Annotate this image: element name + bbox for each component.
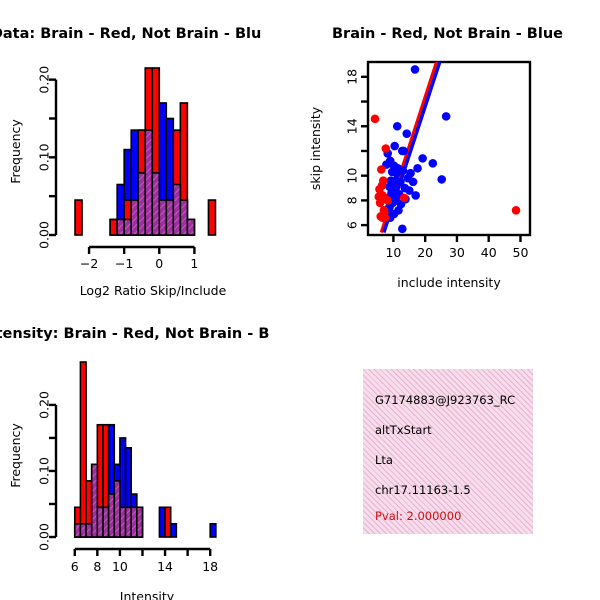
svg-text:20: 20 <box>417 245 433 260</box>
gene-intensity-histogram-title: ne Itensity: Brain - Red, Not Brain - B <box>0 326 269 342</box>
histogram-bar <box>131 200 138 235</box>
scatter-point <box>413 164 422 173</box>
histogram-bar <box>109 494 115 537</box>
histogram-bar <box>210 524 216 537</box>
histogram-bar <box>92 464 98 537</box>
scatter-point <box>399 147 408 156</box>
svg-text:6: 6 <box>345 221 360 229</box>
histogram-bar <box>75 200 82 235</box>
svg-text:6: 6 <box>71 559 79 574</box>
svg-text:0.00: 0.00 <box>37 221 52 249</box>
svg-text:14: 14 <box>157 559 173 574</box>
coordinate-label: chr17.11163-1.5 <box>375 483 471 497</box>
gene-intensity-histogram-plot: 0.000.100.20Frequency68101418Intensity <box>0 300 300 600</box>
histogram-bar <box>137 507 143 537</box>
svg-text:10: 10 <box>385 245 401 260</box>
ratio-histogram-title: RatioData: Brain - Red, Not Brain - Blu <box>0 26 261 42</box>
ratio-histogram-plot: 0.000.100.20Frequency−2−101Log2 Ratio Sk… <box>0 0 300 300</box>
panel-intensity-scatter: Brain - Red, Not Brain - Blue 68101418sk… <box>300 0 600 300</box>
svg-text:skip intensity: skip intensity <box>308 106 323 190</box>
svg-text:include intensity: include intensity <box>397 275 501 290</box>
scatter-point <box>390 142 399 151</box>
histogram-bar <box>171 524 177 537</box>
event-type-label: altTxStart <box>375 423 432 437</box>
histogram-bar <box>138 173 145 235</box>
svg-text:18: 18 <box>345 69 360 85</box>
panel-ratio-histogram: RatioData: Brain - Red, Not Brain - Blu … <box>0 0 300 300</box>
scatter-point <box>371 115 380 124</box>
svg-text:0.10: 0.10 <box>37 143 52 171</box>
scatter-point <box>402 129 411 138</box>
panel-gene-intensity-histogram: ne Itensity: Brain - Red, Not Brain - B … <box>0 300 300 600</box>
histogram-bar <box>80 362 86 537</box>
scatter-point <box>379 176 388 185</box>
scatter-point <box>437 175 446 184</box>
histogram-bar <box>120 507 126 537</box>
histogram-bar <box>103 507 109 537</box>
svg-text:10: 10 <box>112 559 128 574</box>
histogram-bar <box>187 219 194 235</box>
scatter-point <box>512 206 521 215</box>
scatter-point <box>442 112 451 121</box>
svg-text:Intensity: Intensity <box>120 589 175 600</box>
svg-text:1: 1 <box>190 256 198 271</box>
svg-text:0.10: 0.10 <box>37 457 52 485</box>
gene-symbol-label: Lta <box>375 453 393 467</box>
histogram-bar <box>114 481 120 537</box>
svg-text:−2: −2 <box>80 256 98 271</box>
histogram-bar <box>165 507 171 537</box>
scatter-point <box>393 122 402 131</box>
scatter-point <box>411 191 420 200</box>
scatter-point <box>377 165 386 174</box>
svg-text:8: 8 <box>345 196 360 204</box>
svg-text:Frequency: Frequency <box>8 119 23 184</box>
histogram-bar <box>131 507 137 537</box>
svg-text:0: 0 <box>155 256 163 271</box>
svg-text:50: 50 <box>513 245 529 260</box>
histogram-bar <box>173 185 180 235</box>
scatter-point <box>383 196 392 205</box>
scatter-point <box>398 225 407 234</box>
svg-text:0.00: 0.00 <box>37 523 52 551</box>
svg-text:14: 14 <box>345 118 360 134</box>
histogram-bar <box>75 524 81 537</box>
histogram-bar <box>124 219 131 235</box>
pval-label: Pval: 2.000000 <box>375 509 461 523</box>
histogram-bar <box>166 200 173 235</box>
histogram-bar <box>159 200 166 235</box>
scatter-point <box>381 213 390 222</box>
scatter-point <box>411 65 420 74</box>
scatter-point <box>400 194 409 203</box>
svg-text:30: 30 <box>449 245 465 260</box>
histogram-bar <box>86 524 92 537</box>
histogram-bar <box>180 200 187 235</box>
histogram-bar <box>117 219 124 235</box>
histogram-bar <box>208 200 215 235</box>
histogram-bar <box>110 219 117 235</box>
scatter-point <box>376 199 385 208</box>
scatter-point <box>399 166 408 175</box>
probe-id-label: G7174883@J923763_RC <box>375 393 515 407</box>
svg-text:18: 18 <box>202 559 218 574</box>
svg-text:0.20: 0.20 <box>37 66 52 94</box>
histogram-bar <box>145 130 152 235</box>
histogram-bar <box>97 507 103 537</box>
scatter-plot: 68101418skip intensity1020304050include … <box>300 0 600 300</box>
histogram-bar <box>152 173 159 235</box>
scatter-point <box>429 159 438 168</box>
scatter-point <box>418 154 427 163</box>
svg-text:0.20: 0.20 <box>37 391 52 419</box>
svg-text:−1: −1 <box>115 256 133 271</box>
probe-info-panel: G7174883@J923763_RC altTxStart Lta chr17… <box>363 369 533 534</box>
scatter-point <box>381 144 390 153</box>
svg-text:40: 40 <box>481 245 497 260</box>
histogram-bar <box>80 524 86 537</box>
svg-text:Log2 Ratio Skip/Include: Log2 Ratio Skip/Include <box>80 283 227 298</box>
svg-text:8: 8 <box>93 559 101 574</box>
svg-text:Frequency: Frequency <box>8 423 23 488</box>
histogram-bar <box>126 507 132 537</box>
histogram-bar <box>159 507 165 537</box>
svg-text:10: 10 <box>345 168 360 184</box>
scatter-title: Brain - Red, Not Brain - Blue <box>332 26 563 42</box>
scatter-point <box>404 174 413 183</box>
